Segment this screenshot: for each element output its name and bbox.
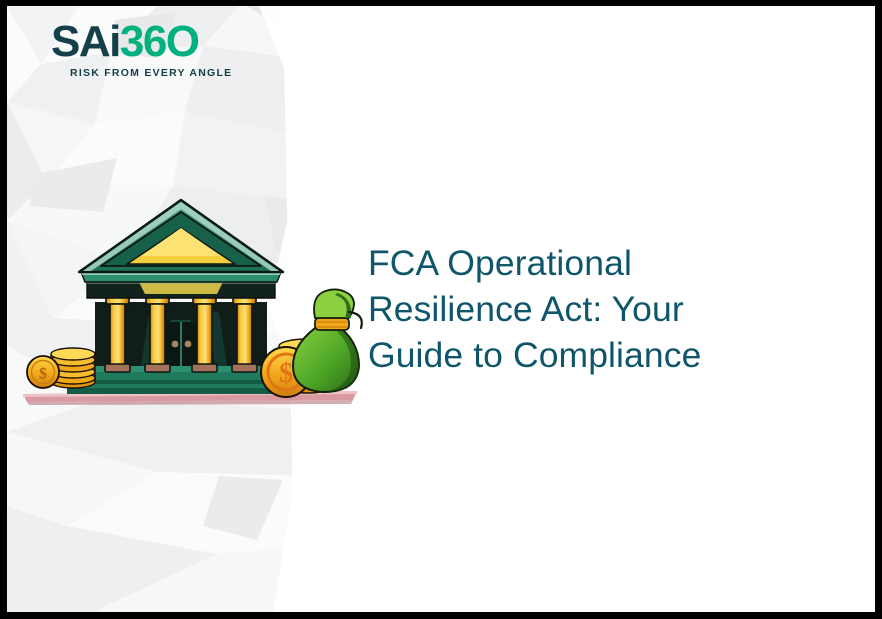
left-coin-stack: $ bbox=[27, 348, 95, 388]
bank-illustration-svg: $ $ bbox=[21, 194, 365, 409]
svg-text:$: $ bbox=[39, 366, 47, 383]
bank-entablature bbox=[81, 272, 281, 298]
bank-illustration: $ $ bbox=[21, 194, 365, 409]
logo-tagline: RISK FROM EVERY ANGLE bbox=[70, 67, 251, 79]
bank-doors bbox=[163, 322, 199, 366]
money-bag bbox=[293, 289, 362, 392]
logo-wordmark: SAi36O bbox=[51, 20, 251, 64]
logo-sai-text: SAi bbox=[51, 17, 120, 66]
bank-base bbox=[67, 362, 293, 394]
logo-360-text: 36O bbox=[120, 17, 199, 66]
page-title: FCA Operational Resilience Act: Your Gui… bbox=[368, 240, 788, 378]
sai360-logo: SAi36O RISK FROM EVERY ANGLE bbox=[51, 20, 251, 82]
svg-text:$: $ bbox=[279, 358, 293, 389]
bank-roof bbox=[79, 200, 283, 272]
slide-canvas: SAi36O RISK FROM EVERY ANGLE bbox=[7, 6, 875, 612]
title-block: FCA Operational Resilience Act: Your Gui… bbox=[368, 240, 788, 378]
